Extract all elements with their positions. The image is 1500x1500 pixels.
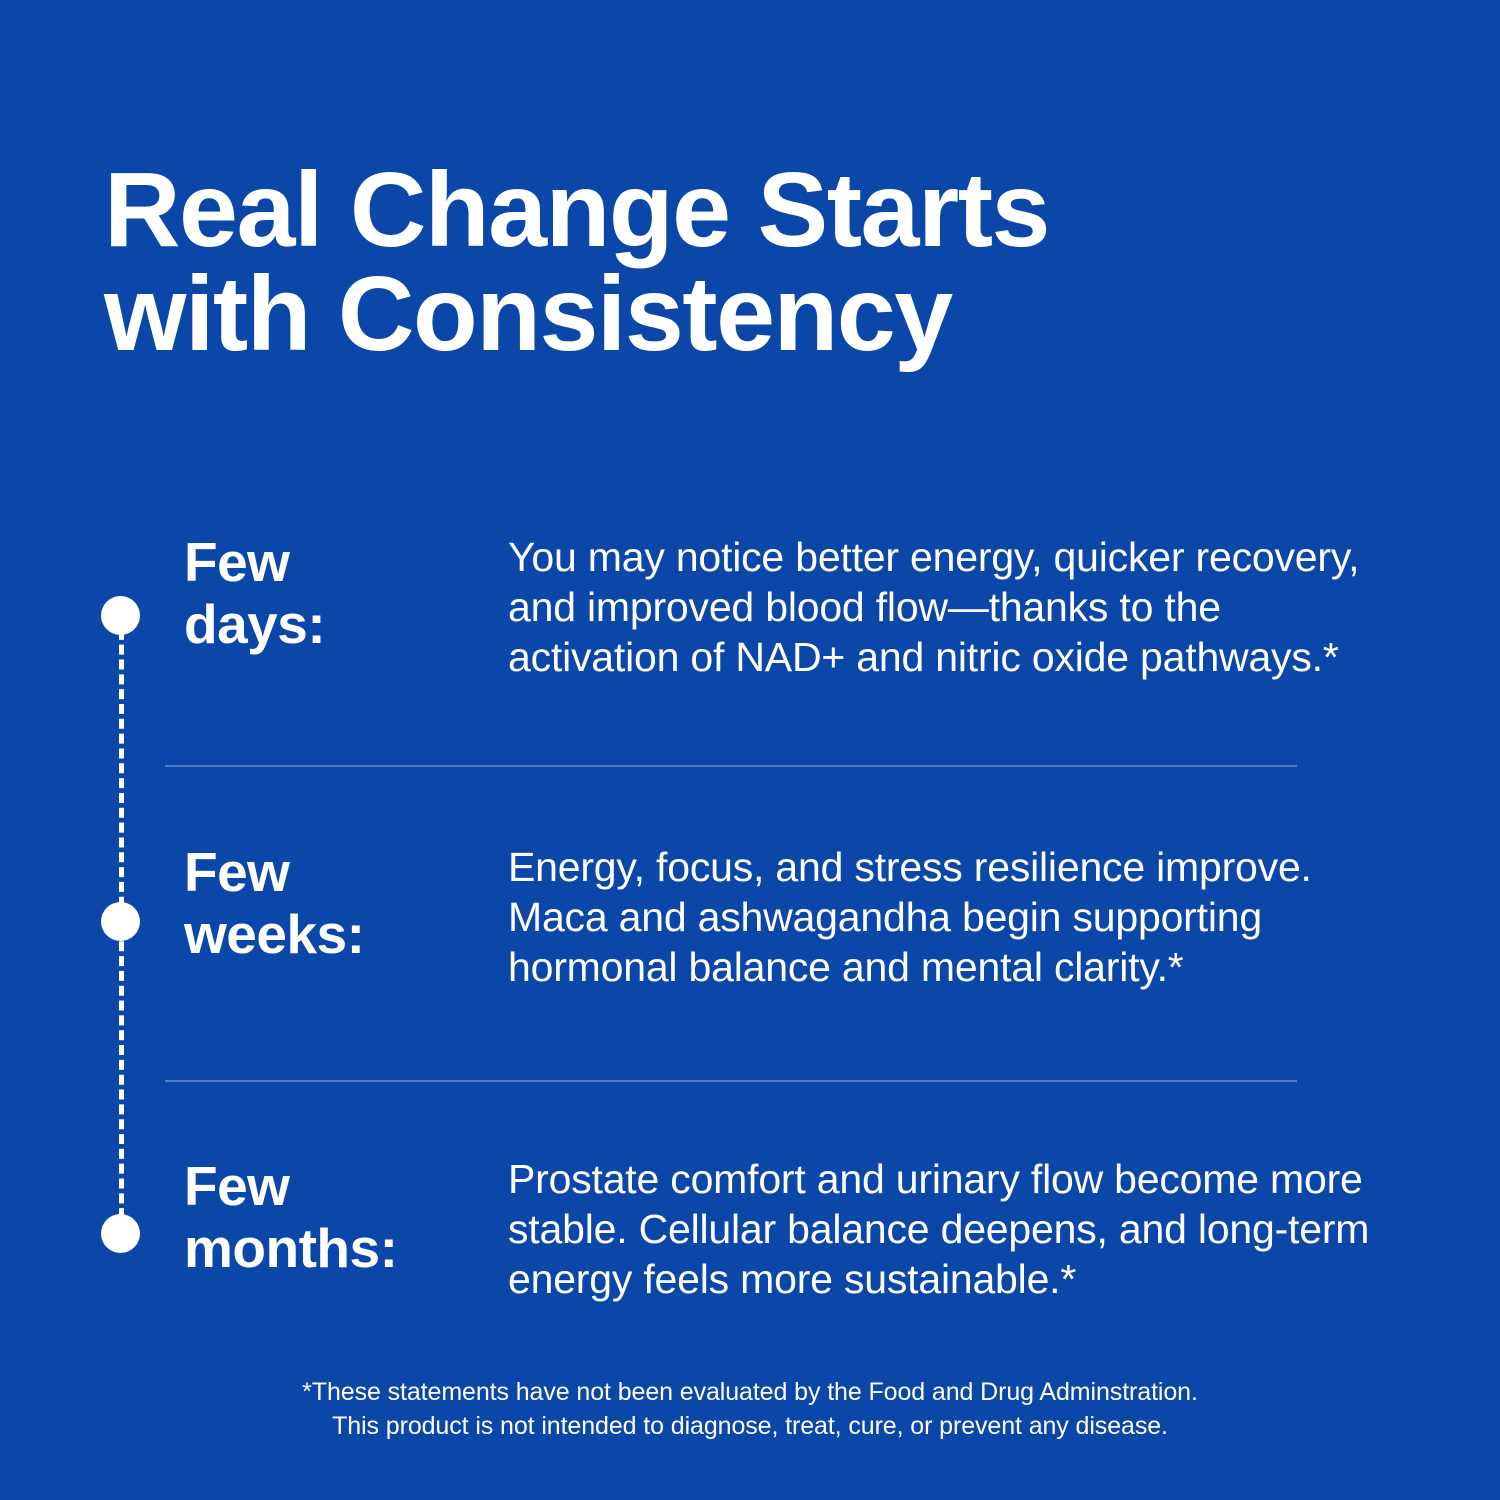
timeline-item-label: Few months: (184, 1156, 484, 1279)
disclaimer-line-2: This product is not intended to diagnose… (0, 1410, 1500, 1444)
timeline: Few days: You may notice better energy, … (0, 0, 1500, 1500)
timeline-item-description: You may notice better energy, quicker re… (508, 532, 1398, 682)
timeline-item-description: Prostate comfort and urinary flow become… (508, 1154, 1398, 1304)
section-divider-2 (165, 1080, 1297, 1082)
promo-poster: Real Change Starts with Consistency Few … (0, 0, 1500, 1500)
timeline-item-description: Energy, focus, and stress resilience imp… (508, 842, 1398, 992)
timeline-marker-dot-2 (101, 902, 140, 941)
timeline-marker-dot-1 (101, 596, 140, 635)
timeline-marker-dot-3 (101, 1214, 140, 1253)
disclaimer-line-1: *These statements have not been evaluate… (0, 1376, 1500, 1410)
section-divider-1 (165, 765, 1297, 767)
disclaimer: *These statements have not been evaluate… (0, 1376, 1500, 1444)
timeline-item-label: Few weeks: (184, 842, 484, 965)
timeline-item-label: Few days: (184, 532, 484, 655)
